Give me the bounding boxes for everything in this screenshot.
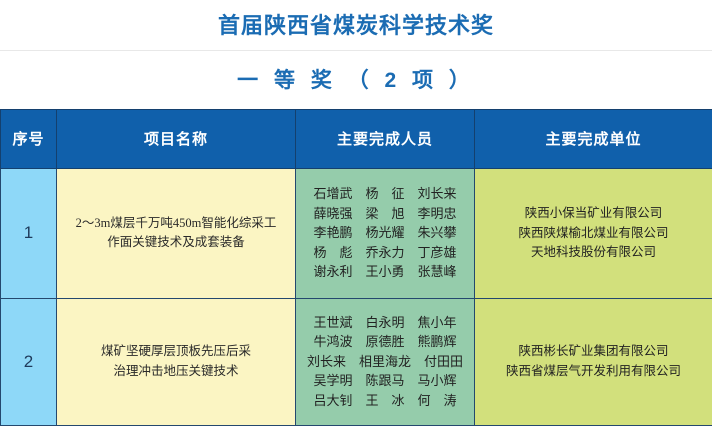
cell-unit: 陕西小保当矿业有限公司 陕西陕煤榆北煤业有限公司 天地科技股份有限公司 [475,168,712,298]
table-header: 序号 项目名称 主要完成人员 主要完成单位 [1,109,712,168]
table-row: 2 煤矿坚硬厚层顶板先压后采 治理冲击地压关键技术 王世斌 白永明 焦小年 牛鸿… [1,298,712,425]
award-list-page: 首届陕西省煤炭科学技术奖 一 等 奖 （ 2 项 ） 序号 项目名称 主要完成人… [0,0,712,410]
project-line: 2～3m煤层千万吨450m智能化综采工 [65,214,287,233]
project-line: 治理冲击地压关键技术 [65,362,287,381]
cell-seq: 2 [1,298,57,425]
title-block: 首届陕西省煤炭科学技术奖 一 等 奖 （ 2 项 ） [0,0,712,109]
cell-project: 煤矿坚硬厚层顶板先压后采 治理冲击地压关键技术 [57,298,296,425]
table-body: 1 2～3m煤层千万吨450m智能化综采工 作面关键技术及成套装备 石增武 杨 … [1,168,712,425]
table-row: 1 2～3m煤层千万吨450m智能化综采工 作面关键技术及成套装备 石增武 杨 … [1,168,712,298]
award-table: 序号 项目名称 主要完成人员 主要完成单位 1 2～3m煤层千万吨450m智能化… [0,109,712,426]
cell-seq: 1 [1,168,57,298]
column-header-unit: 主要完成单位 [475,109,712,168]
cell-project: 2～3m煤层千万吨450m智能化综采工 作面关键技术及成套装备 [57,168,296,298]
column-header-people: 主要完成人员 [296,109,475,168]
project-line: 煤矿坚硬厚层顶板先压后采 [65,342,287,361]
cell-people: 王世斌 白永明 焦小年 牛鸿波 原德胜 熊鹏辉 刘长来 相里海龙 付田田 吴学明… [296,298,475,425]
column-header-seq: 序号 [1,109,57,168]
award-level-subtitle: 一 等 奖 （ 2 项 ） [0,51,712,109]
page-title: 首届陕西省煤炭科学技术奖 [0,0,712,50]
cell-unit: 陕西彬长矿业集团有限公司 陕西省煤层气开发利用有限公司 [475,298,712,425]
project-line: 作面关键技术及成套装备 [65,233,287,252]
cell-people: 石增武 杨 征 刘长来 薛晓强 梁 旭 李明忠 李艳鹏 杨光耀 朱兴攀 杨 彪 … [296,168,475,298]
column-header-project: 项目名称 [57,109,296,168]
table-header-row: 序号 项目名称 主要完成人员 主要完成单位 [1,109,712,168]
